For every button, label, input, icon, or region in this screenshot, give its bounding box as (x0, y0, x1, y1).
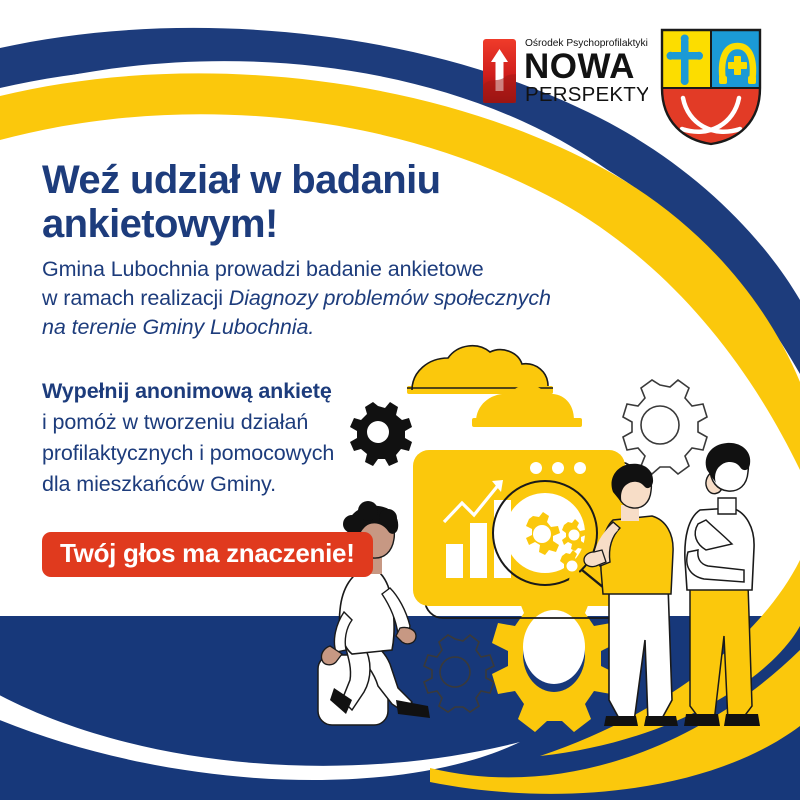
pointing-person-legs (609, 585, 672, 722)
poster-canvas: Ośrodek Psychoprofilaktyki NOWA PERSPEKT… (0, 0, 800, 800)
cta-line-4: dla mieszkańców Gminy. (42, 472, 276, 496)
thinking-person-shoe-left (684, 714, 720, 726)
sitting-person-hair-curl-2 (358, 501, 378, 521)
intro-line-1: Gmina Lubochnia prowadzi badanie ankieto… (42, 257, 484, 281)
thinking-person-shoe-right (724, 714, 760, 726)
pointing-person-shoe-left (604, 716, 638, 726)
headline-line-1: Weź udział w badaniu (42, 158, 440, 202)
cta-line-2: i pomóż w tworzeniu działań (42, 410, 308, 434)
thinking-person-legs (690, 584, 752, 722)
intro-line-2-plain: w ramach realizacji (42, 286, 229, 310)
dashboard-dots-icon (530, 462, 586, 474)
call-to-action-paragraph: Wypełnij anonimową ankietę i pomóż w two… (42, 376, 334, 500)
gear-yellow-large-icon (492, 585, 617, 732)
sitting-person-shoe-back (396, 700, 430, 718)
headline-line-2: ankietowym! (42, 202, 278, 246)
gear-outline-large-icon (623, 380, 707, 474)
pointing-person-shoe-right (644, 716, 678, 726)
gear-black-small-icon (350, 402, 412, 466)
cta-line-1: Wypełnij anonimową ankietę (42, 379, 332, 403)
intro-line-2-italic: Diagnozy problemów społecznych (229, 286, 551, 310)
status-badge: Twój głos ma znaczenie! (42, 532, 373, 577)
intro-line-3-italic: na terenie Gminy Lubochnia. (42, 315, 314, 339)
sitting-person-hair-curl-1 (343, 515, 361, 533)
cta-line-3: profilaktycznych i pomocowych (42, 441, 334, 465)
thinking-person-neck (718, 498, 736, 514)
sitting-person-hair-curl-3 (379, 509, 397, 527)
sitting-person-hand-right (396, 627, 416, 643)
sitting-person-jacket (340, 568, 395, 654)
intro-paragraph: Gmina Lubochnia prowadzi badanie ankieto… (42, 255, 551, 343)
person-thinking (684, 443, 760, 726)
gear-outline-small-icon (424, 635, 494, 712)
page-title: Weź udział w badaniu ankietowym! (42, 158, 440, 246)
